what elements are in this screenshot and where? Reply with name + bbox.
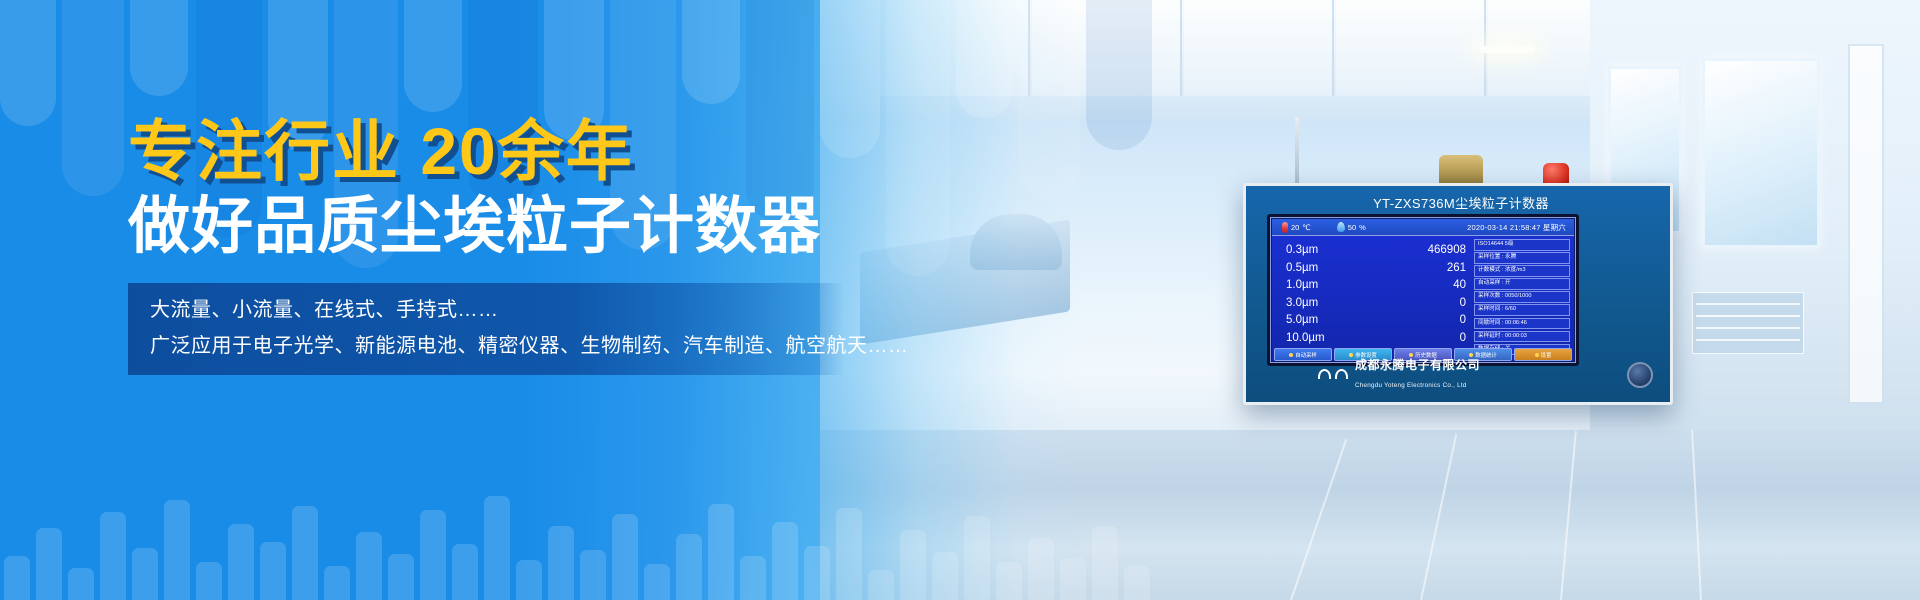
ceiling-panel (1184, 0, 1334, 96)
screen-status-bar: 20 ℃ 50 % 2020-03-14 21:58:47 星期六 (1272, 219, 1574, 236)
particle-count: 0 (1460, 330, 1466, 348)
settings-row[interactable]: 计数模式 : 浓度/m3 (1474, 265, 1570, 277)
particle-size: 10.0µm (1286, 330, 1325, 348)
brass-sensor-knob (1439, 155, 1483, 185)
settings-panel: ISO14644 5级 采样位置 : 永腾 计数模式 : 浓度/m3 自动采样 … (1472, 236, 1574, 361)
particle-row: 0.3µm 466908 (1286, 242, 1466, 260)
particle-size: 3.0µm (1286, 295, 1318, 313)
device-model-title: YT-ZXS736M尘埃粒子计数器 (1246, 193, 1676, 212)
datetime-readout: 2020-03-14 21:58:47 星期六 (1467, 222, 1566, 233)
subtitle-line-2: 广泛应用于电子光学、新能源电池、精密仪器、生物制药、汽车制造、航空航天…… (150, 331, 822, 361)
brand-name-cn: 成都永腾电子有限公司 (1355, 358, 1480, 372)
headline-primary: 专注行业 20余年 (128, 116, 888, 187)
device-body: YT-ZXS736M尘埃粒子计数器 20 ℃ 50 % 2020-03-14 2… (1243, 183, 1673, 405)
particle-size: 0.3µm (1286, 242, 1318, 260)
brand-name-en: Chengdu Yoteng Electronics Co., Ltd (1355, 382, 1467, 389)
water-drop-icon (1337, 222, 1345, 232)
button-settings[interactable]: 设置 (1514, 348, 1572, 361)
settings-row[interactable]: 自动采样 : 开 (1474, 278, 1570, 290)
subtitle-line-1: 大流量、小流量、在线式、手持式…… (150, 295, 822, 325)
particle-count: 0 (1460, 295, 1466, 313)
ceiling-light (1480, 46, 1534, 53)
thermometer-icon (1282, 222, 1288, 233)
button-label: 设置 (1541, 351, 1552, 359)
status-dot-icon (1289, 353, 1293, 357)
headline-secondary: 做好品质尘埃粒子计数器 (128, 193, 888, 261)
alarm-lamp-icon (1543, 163, 1569, 185)
particle-row: 0.5µm 261 (1286, 260, 1466, 278)
particle-size: 5.0µm (1286, 312, 1318, 330)
promo-banner: 专注行业 20余年 做好品质尘埃粒子计数器 大流量、小流量、在线式、手持式…… … (0, 0, 1920, 600)
particle-count: 261 (1447, 260, 1466, 278)
settings-row[interactable]: 间歇时间 : 00:06:46 (1474, 318, 1570, 330)
humidity-unit: % (1359, 223, 1366, 232)
temperature-readout: 20 ℃ (1282, 222, 1311, 233)
particle-row: 10.0µm 0 (1286, 330, 1466, 348)
particle-counter-device: YT-ZXS736M尘埃粒子计数器 20 ℃ 50 % 2020-03-14 2… (1243, 183, 1673, 405)
wall-vent (1692, 292, 1804, 354)
door-frame (1848, 44, 1884, 404)
humidity-readout: 50 % (1337, 222, 1366, 232)
temperature-unit: ℃ (1302, 223, 1310, 232)
particle-row: 3.0µm 0 (1286, 295, 1466, 313)
device-branding: 成都永腾电子有限公司 Chengdu Yoteng Electronics Co… (1318, 356, 1480, 392)
device-screen[interactable]: 20 ℃ 50 % 2020-03-14 21:58:47 星期六 0.3µm (1267, 214, 1579, 366)
power-dial[interactable] (1627, 362, 1653, 388)
settings-row[interactable]: 采样次数 : 0050/1000 (1474, 291, 1570, 303)
particle-readings-list: 0.3µm 466908 0.5µm 261 1.0µm 40 3.0µm (1272, 236, 1472, 361)
screen-content: 0.3µm 466908 0.5µm 261 1.0µm 40 3.0µm (1272, 236, 1574, 361)
particle-size: 1.0µm (1286, 277, 1318, 295)
particle-size: 0.5µm (1286, 260, 1318, 278)
particle-count: 0 (1460, 312, 1466, 330)
status-dot-icon (1535, 353, 1539, 357)
settings-row[interactable]: 采样位置 : 永腾 (1474, 252, 1570, 264)
particle-row: 1.0µm 40 (1286, 277, 1466, 295)
corridor-window (1702, 58, 1820, 248)
equalizer-strip (0, 460, 1180, 600)
humidity-value: 50 (1348, 223, 1356, 232)
subtitle-band: 大流量、小流量、在线式、手持式…… 广泛应用于电子光学、新能源电池、精密仪器、生… (128, 283, 844, 375)
yoteng-logo-icon (1318, 366, 1348, 382)
settings-row[interactable]: 采样时间 : 6/60 (1474, 304, 1570, 316)
settings-row[interactable]: 采样延时 : 00:00:03 (1474, 331, 1570, 343)
antenna-icon (1295, 117, 1299, 187)
temperature-value: 20 (1291, 223, 1299, 232)
particle-row: 5.0µm 0 (1286, 312, 1466, 330)
marketing-copy: 专注行业 20余年 做好品质尘埃粒子计数器 大流量、小流量、在线式、手持式…… … (128, 116, 888, 375)
button-label: 自动采样 (1295, 351, 1317, 359)
ceiling-panel (1336, 0, 1486, 96)
particle-count: 466908 (1428, 242, 1466, 260)
particle-count: 40 (1453, 277, 1466, 295)
settings-row[interactable]: ISO14644 5级 (1474, 239, 1570, 251)
